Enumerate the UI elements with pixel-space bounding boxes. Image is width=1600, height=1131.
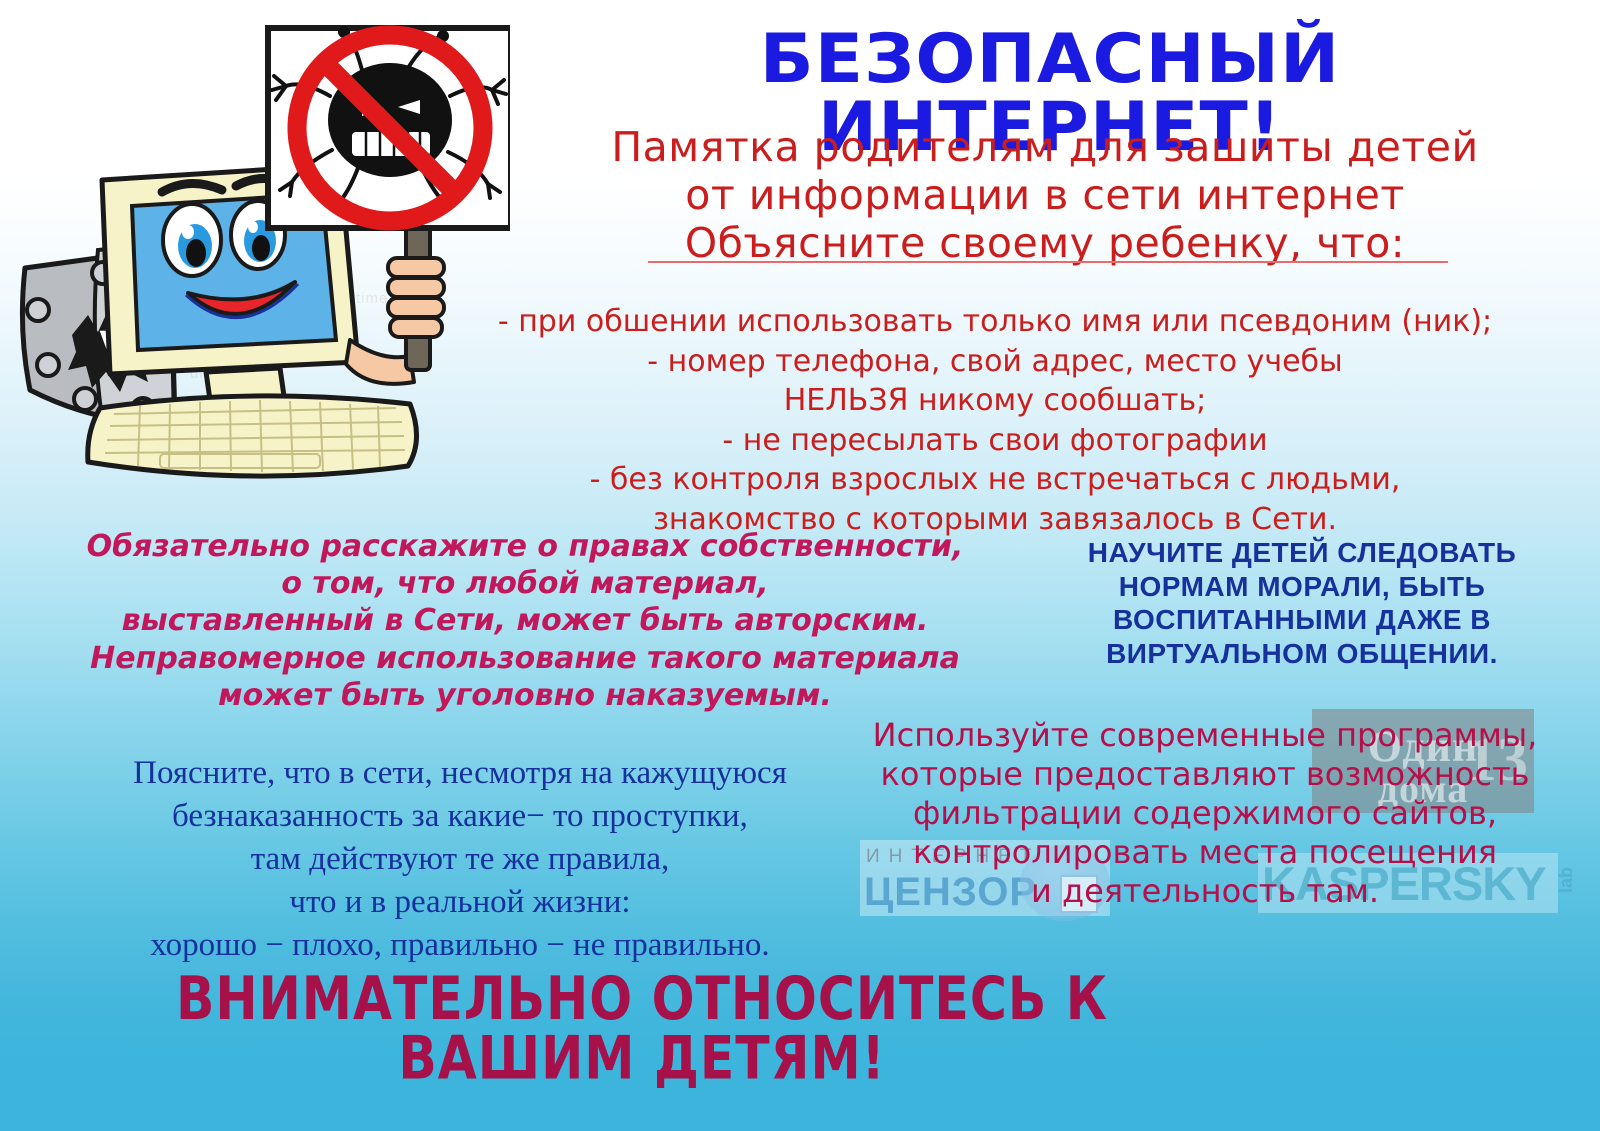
subtitle-line-2: от информации в сети интернет bbox=[560, 172, 1530, 220]
morals-line-4: ВИРТУАЛЬНОМ ОБЩЕНИИ. bbox=[1062, 637, 1542, 671]
copyright-line-1: Обязательно расскажите о правах собствен… bbox=[20, 528, 1030, 565]
explain-line-3: там действуют те же правила, bbox=[85, 838, 835, 881]
software-advice-block: Используйте современные программы, котор… bbox=[855, 716, 1555, 911]
software-line-3: фильтрации содержимого сайтов, bbox=[855, 794, 1555, 833]
software-line-4: контролировать места посещения bbox=[855, 833, 1555, 872]
keyboard bbox=[88, 396, 417, 476]
subtitle-line-1: Памятка родителям для зашиты детей bbox=[560, 124, 1530, 172]
morals-line-2: НОРМАМ МОРАЛИ, БЫТЬ bbox=[1062, 570, 1542, 604]
subtitle-underline-divider bbox=[648, 261, 1448, 263]
subtitle-block: Памятка родителям для зашиты детей от ин… bbox=[560, 124, 1530, 268]
copyright-line-4: Неправомерное использование такого матер… bbox=[20, 640, 1030, 677]
watermark-kaspersky-lab-label: lab bbox=[1556, 867, 1577, 893]
copyright-line-2: о том, что любой материал, bbox=[20, 565, 1030, 602]
software-line-5: и деятельность там. bbox=[855, 872, 1555, 911]
advice-bullet-list: - при обшении использовать только имя ил… bbox=[450, 302, 1540, 540]
footer-call-to-action: ВНИМАТЕЛЬНО ОТНОСИТЕСЬ К ВАШИМ ДЕТЯМ! bbox=[60, 970, 1224, 1089]
explain-line-2: безнаказанность за какие− то проступки, bbox=[85, 795, 835, 838]
software-line-1: Используйте современные программы, bbox=[855, 716, 1555, 755]
bullet-line-2: - номер телефона, свой адрес, место учеб… bbox=[450, 342, 1540, 382]
explain-line-4: что и в реальной жизни: bbox=[85, 881, 835, 924]
morals-line-3: ВОСПИТАННЫМИ ДАЖЕ В bbox=[1062, 603, 1542, 637]
bullet-line-1: - при обшении использовать только имя ил… bbox=[450, 302, 1540, 342]
mascot-arm-and-hand bbox=[346, 220, 444, 384]
no-virus-prohibition-sign bbox=[268, 26, 510, 228]
computer-mascot-illustration: V bbox=[10, 10, 510, 480]
poster-canvas: Один дома 13 ИНТЕРНЕТ ЦЕНЗОР KASPERSKY l… bbox=[0, 0, 1600, 1131]
copyright-advice-block: Обязательно расскажите о правах собствен… bbox=[20, 528, 1030, 714]
morals-line-1: НАУЧИТЕ ДЕТЕЙ СЛЕДОВАТЬ bbox=[1062, 536, 1542, 570]
copyright-line-3: выставленный в Сети, может быть авторски… bbox=[20, 602, 1030, 639]
bullet-line-3: НЕЛЬЗЯ никому сообшать; bbox=[450, 381, 1540, 421]
explain-line-1: Поясните, что в сети, несмотря на кажущу… bbox=[85, 752, 835, 795]
explain-line-5: хорошо − плохо, правильно − не правильно… bbox=[85, 924, 835, 967]
bullet-line-4: - не пересылать свои фотографии bbox=[450, 421, 1540, 461]
explain-rules-block: Поясните, что в сети, несмотря на кажущу… bbox=[85, 752, 835, 966]
copyright-line-5: может быть уголовно наказуемым. bbox=[20, 677, 1030, 714]
morals-advice-block: НАУЧИТЕ ДЕТЕЙ СЛЕДОВАТЬ НОРМАМ МОРАЛИ, Б… bbox=[1062, 536, 1542, 670]
bullet-line-5: - без контроля взрослых не встречаться с… bbox=[450, 460, 1540, 500]
software-line-2: которые предоставляют возможность bbox=[855, 755, 1555, 794]
